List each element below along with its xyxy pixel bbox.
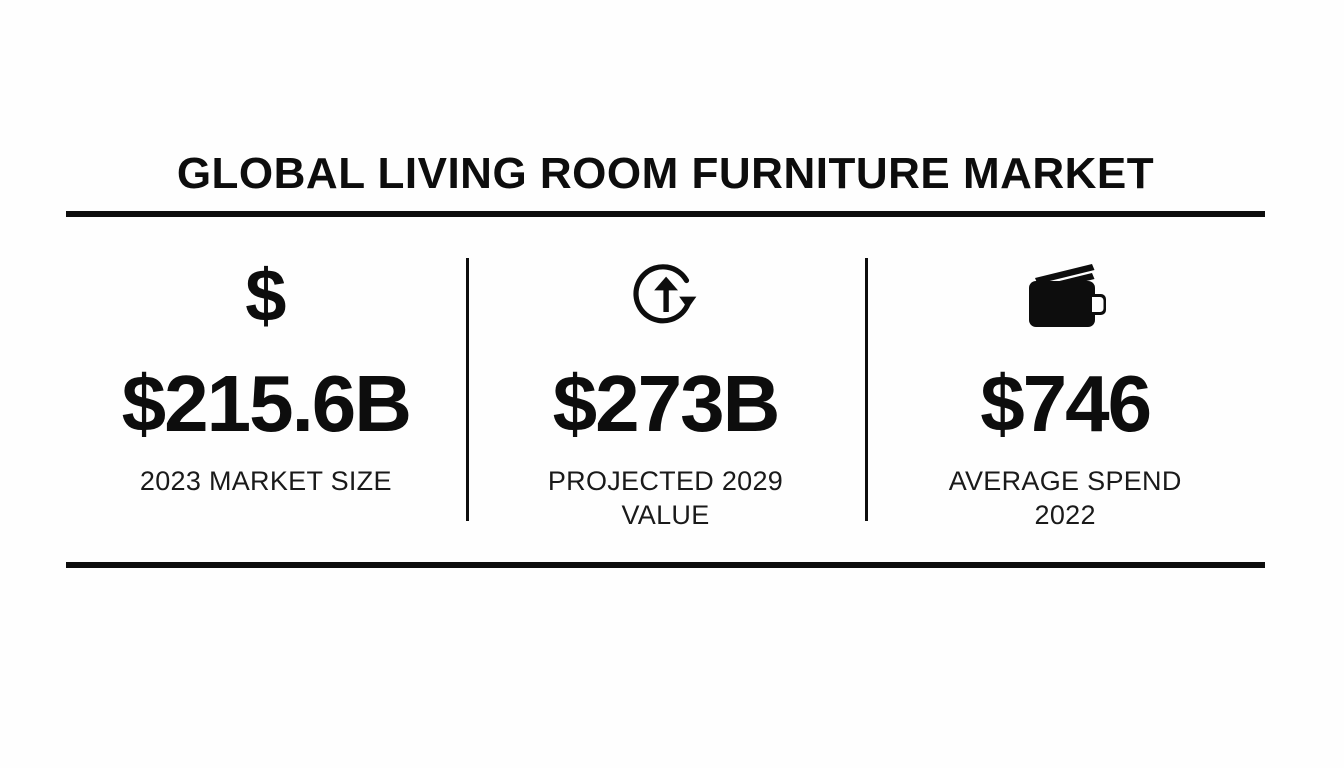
- stat-value-market-size: $215.6B: [122, 364, 410, 444]
- stats-row: $ $215.6B 2023 MARKET SIZE $273B: [66, 252, 1265, 542]
- dollar-sign-icon: $: [245, 252, 286, 340]
- infographic-canvas: GLOBAL LIVING ROOM FURNITURE MARKET $ $2…: [0, 0, 1344, 768]
- stat-label-average-spend-line1: AVERAGE SPEND: [949, 466, 1182, 496]
- stat-label-average-spend-line2: 2022: [1035, 500, 1096, 530]
- stat-label-market-size: 2023 MARKET SIZE: [140, 464, 392, 498]
- divider-bottom: [66, 562, 1265, 568]
- stat-label-average-spend: AVERAGE SPEND 2022: [949, 464, 1182, 532]
- dollar-sign-glyph: $: [245, 259, 286, 333]
- stat-value-average-spend: $746: [980, 364, 1150, 444]
- stat-label-projected-value: PROJECTED 2029 VALUE: [536, 464, 796, 532]
- stat-card-market-size: $ $215.6B 2023 MARKET SIZE: [66, 252, 466, 542]
- divider-top: [66, 211, 1265, 217]
- stat-value-projected-value: $273B: [553, 364, 779, 444]
- wallet-icon: [1022, 252, 1108, 340]
- page-title: GLOBAL LIVING ROOM FURNITURE MARKET: [66, 148, 1265, 200]
- growth-arrow-circle-icon: [626, 252, 706, 340]
- stat-card-average-spend: $746 AVERAGE SPEND 2022: [865, 252, 1265, 542]
- stat-card-projected-value: $273B PROJECTED 2029 VALUE: [466, 252, 866, 542]
